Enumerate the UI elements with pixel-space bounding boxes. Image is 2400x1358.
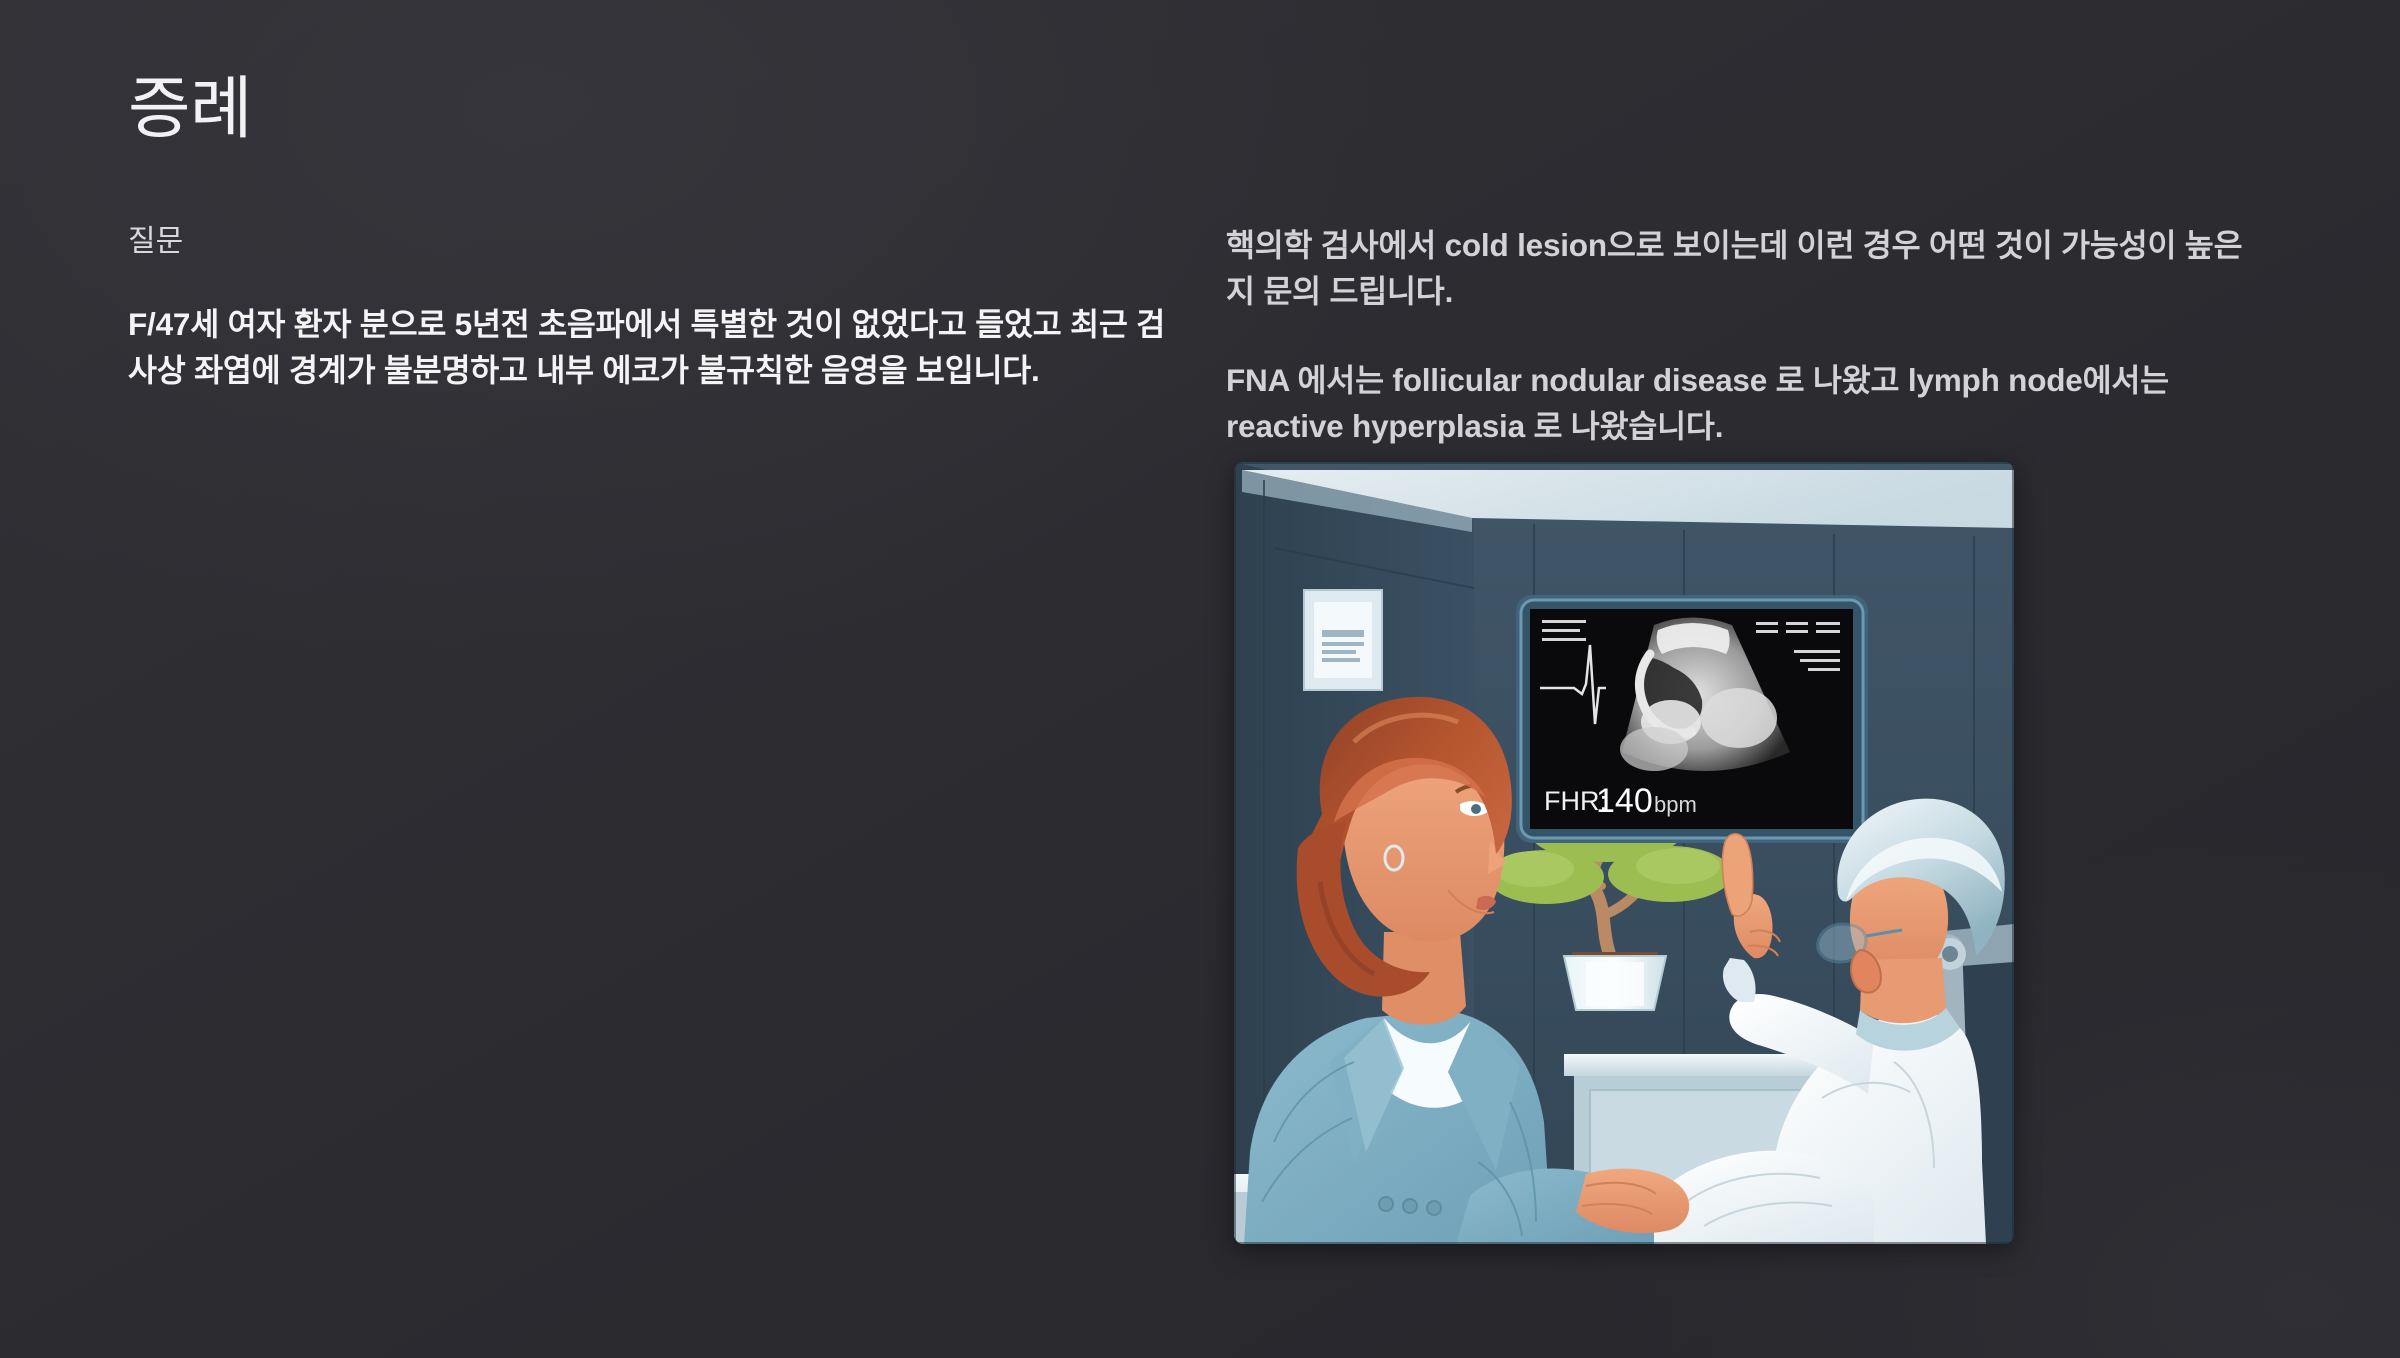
slide-canvas: 증례 질문 F/47세 여자 환자 분으로 5년전 초음파에서 특별한 것이 없… [0,0,2400,1358]
right-column: 핵의학 검사에서 cold lesion으로 보이는데 이런 경우 어떤 것이 … [1226,222,2266,449]
fhr-value: 140 [1596,782,1653,820]
fna-result-paragraph: FNA 에서는 follicular nodular disease 로 나왔고… [1226,357,2266,450]
consultation-illustration: FHR: 140 bpm [1234,462,2014,1244]
illustration-svg: FHR: 140 bpm [1234,462,2014,1244]
ultrasound-monitor[interactable]: FHR: 140 bpm [1516,595,1868,843]
fhr-unit: bpm [1654,792,1697,817]
left-column: 질문 F/47세 여자 환자 분으로 5년전 초음파에서 특별한 것이 없었다고… [128,222,1188,394]
question-label: 질문 [128,222,1188,261]
nuclear-medicine-paragraph: 핵의학 검사에서 cold lesion으로 보이는데 이런 경우 어떤 것이 … [1226,222,2266,315]
case-history-paragraph: F/47세 여자 환자 분으로 5년전 초음파에서 특별한 것이 없었다고 들었… [128,301,1188,394]
page-title: 증례 [128,70,252,148]
wall-frame [1304,590,1382,690]
